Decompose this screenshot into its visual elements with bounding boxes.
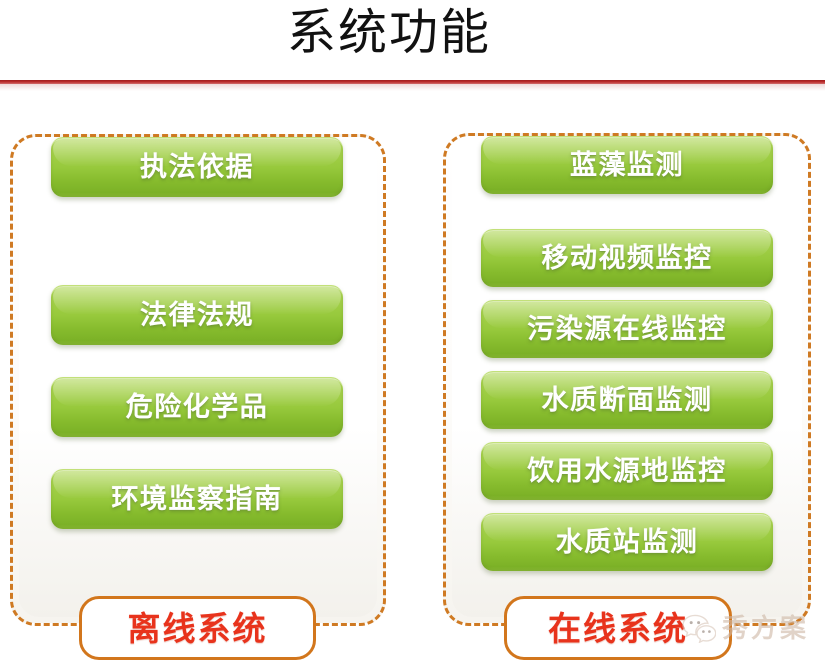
function-button-online-2[interactable]: 污染源在线监控: [481, 300, 773, 358]
watermark: 秀方案: [682, 614, 809, 643]
panel-caption-offline-system: 离线系统: [79, 596, 316, 660]
function-button-online-5[interactable]: 水质站监测: [481, 513, 773, 571]
function-button-label: 环境监察指南: [112, 486, 283, 513]
function-button-label: 执法依据: [140, 154, 254, 181]
function-button-offline-2[interactable]: 危险化学品: [51, 377, 343, 437]
function-button-label: 饮用水源地监控: [527, 458, 727, 485]
function-button-online-4[interactable]: 饮用水源地监控: [481, 442, 773, 500]
function-button-label: 危险化学品: [126, 394, 269, 421]
function-button-online-3[interactable]: 水质断面监测: [481, 371, 773, 429]
function-button-label: 蓝藻监测: [570, 152, 684, 179]
title-divider-shadow: [0, 84, 825, 91]
function-button-online-1[interactable]: 移动视频监控: [481, 229, 773, 287]
panel-caption-label: 离线系统: [128, 612, 268, 645]
panel-offline-system: 法律法规 危险化学品 环境监察指南 执法依据: [10, 134, 386, 626]
function-button-label: 移动视频监控: [542, 245, 713, 272]
function-button-offline-3[interactable]: 环境监察指南: [51, 469, 343, 529]
function-button-label: 法律法规: [140, 302, 254, 329]
function-button-label: 水质断面监测: [542, 387, 713, 414]
slide-header: 系统功能: [0, 0, 825, 86]
panel-caption-label: 在线系统: [548, 612, 688, 645]
wechat-icon: [682, 614, 716, 643]
function-button-offline-1[interactable]: 法律法规: [51, 285, 343, 345]
watermark-label: 秀方案: [722, 616, 809, 642]
page-title: 系统功能: [0, 2, 778, 64]
function-button-label: 污染源在线监控: [527, 316, 727, 343]
slide-canvas: 系统功能 法律法规 危险化学品 环境监察指南 执法依据 移动视频监控 污染源在线…: [0, 0, 825, 671]
function-button-offline-4[interactable]: 执法依据: [51, 137, 343, 197]
panel-online-system: 移动视频监控 污染源在线监控 水质断面监测 饮用水源地监控 水质站监测 蓝藻监测: [443, 133, 811, 626]
function-button-label: 水质站监测: [556, 529, 699, 556]
function-button-online-6[interactable]: 蓝藻监测: [481, 136, 773, 194]
